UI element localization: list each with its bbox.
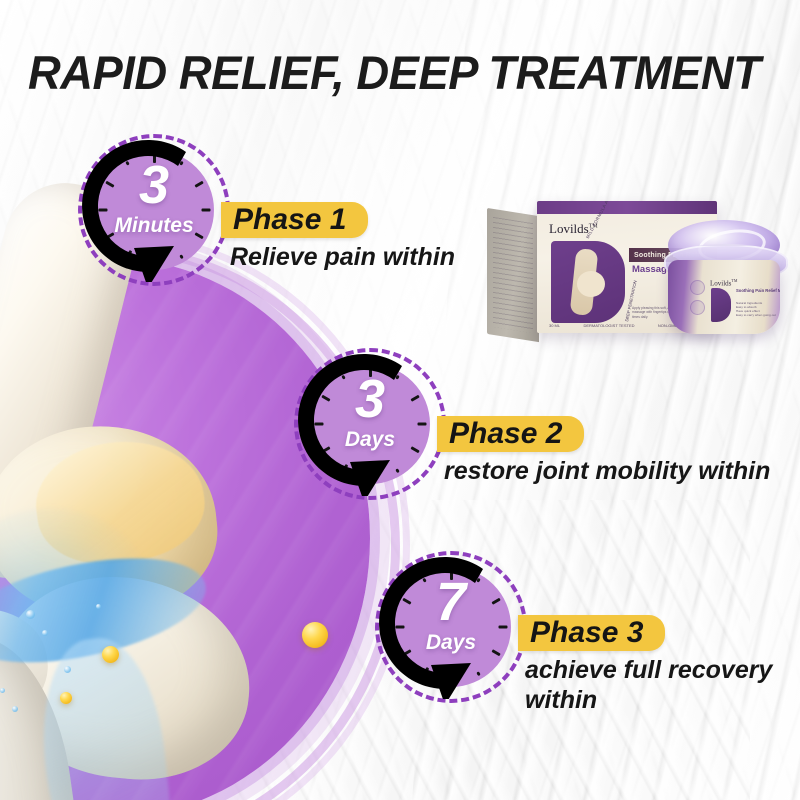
clock-number: 7 xyxy=(375,575,527,629)
page-title: RAPID RELIEF, DEEP TREATMENT xyxy=(28,44,761,102)
gold-particle xyxy=(60,692,72,704)
clock-unit: Days xyxy=(375,631,527,655)
infographic-canvas: RAPID RELIEF, DEEP TREATMENT Lovild xyxy=(0,0,800,800)
gold-particle xyxy=(302,622,328,648)
clock-unit: Minutes xyxy=(78,214,230,238)
clock-badge-3-minutes: 3 Minutes xyxy=(78,134,230,286)
product-jar-logo-mark xyxy=(711,288,731,322)
product-box-icon-label: 30 ML xyxy=(549,323,560,328)
product-jar-badge-icon xyxy=(690,280,705,295)
product-jar-bullet: Easy to carry when going out xyxy=(736,313,776,317)
gold-particle xyxy=(102,646,119,663)
product-jar: LovildsTM Soothing Pain Relief Massage G… xyxy=(662,220,787,340)
phase-description-3: achieve full recovery within xyxy=(525,655,800,715)
trademark-mark: TM xyxy=(731,278,737,283)
product-jar-brand-text: Lovilds xyxy=(710,279,731,287)
phase-label-1: Phase 1 xyxy=(221,205,368,235)
knee-joint-illustration xyxy=(0,258,410,800)
product-jar-bullets: Natural Ingredients Easy to absorb Have … xyxy=(736,301,776,317)
product-jar-badge-icon xyxy=(690,300,705,315)
phase-label-banner-3[interactable]: Phase 3 xyxy=(518,615,665,651)
fluid-bubble xyxy=(96,604,101,609)
phase-block-2[interactable]: 3 Days Phase 2 restore joint mobility wi… xyxy=(294,348,800,518)
clock-badge-7-days: 7 Days xyxy=(375,551,527,703)
phase-description-2: restore joint mobility within xyxy=(444,456,770,486)
clock-number: 3 xyxy=(78,158,230,212)
fluid-bubble xyxy=(42,630,48,636)
phase-label-3: Phase 3 xyxy=(518,618,665,648)
product-jar-description: Soothing Pain Relief Massage Gel xyxy=(736,288,780,293)
phase-block-1[interactable]: 3 Minutes Phase 1 Relieve pain within xyxy=(78,134,638,304)
fluid-bubble xyxy=(64,666,71,673)
clock-badge-3-days: 3 Days xyxy=(294,348,446,500)
phase-label-2: Phase 2 xyxy=(437,419,584,449)
product-jar-brand: LovildsTM xyxy=(710,278,737,287)
fluid-bubble xyxy=(26,610,35,619)
fluid-bubble xyxy=(0,688,5,693)
fluid-bubble xyxy=(12,706,18,712)
clock-number: 3 xyxy=(294,372,446,426)
phase-label-banner-1[interactable]: Phase 1 xyxy=(221,202,368,238)
phase-description-1: Relieve pain within xyxy=(230,242,455,272)
clock-unit: Days xyxy=(294,428,446,452)
product-jar-body: LovildsTM Soothing Pain Relief Massage G… xyxy=(668,260,780,334)
phase-block-3[interactable]: 7 Days Phase 3 achieve full recovery wit… xyxy=(375,551,800,741)
product-box-icon-label: DERMATOLOGIST TESTED xyxy=(583,323,634,328)
phase-label-banner-2[interactable]: Phase 2 xyxy=(437,416,584,452)
